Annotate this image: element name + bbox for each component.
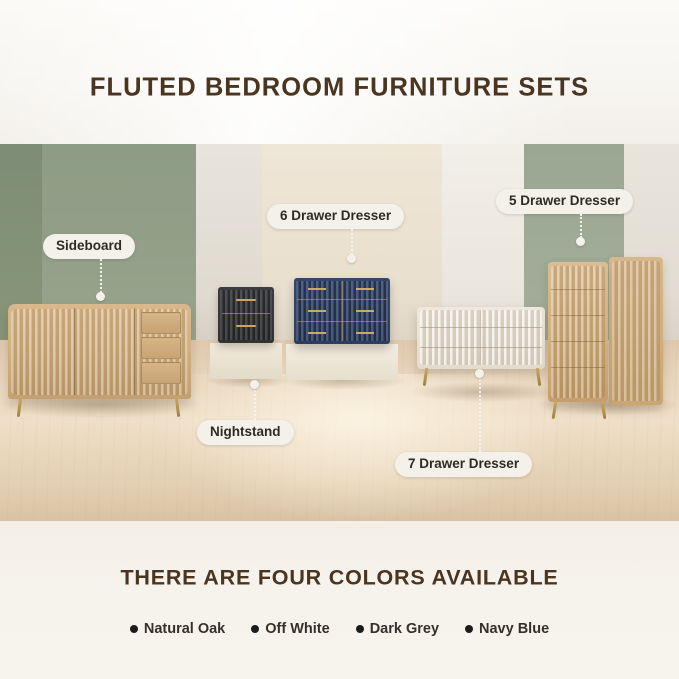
callout-6-drawer-dresser: 6 Drawer Dresser: [267, 204, 404, 229]
colors-heading: THERE ARE FOUR COLORS AVAILABLE: [0, 566, 679, 591]
leader-6-drawer-dresser: [351, 229, 353, 255]
room-scene: Sideboard 6 Drawer Dresser 5 Drawer Dres…: [0, 144, 679, 521]
bullet-icon-off-white: [251, 625, 259, 633]
oak-chest-seam-3: [551, 341, 605, 342]
color-option-dark-grey: Dark Grey: [356, 621, 439, 637]
furniture-5-drawer-dresser: [548, 262, 608, 402]
top-banner: [0, 0, 679, 144]
callout-sideboard: Sideboard: [43, 234, 135, 259]
sideboard-drawer-3: [141, 362, 181, 384]
furniture-6-drawer-dresser: [294, 278, 390, 344]
furniture-nightstand: [218, 287, 274, 343]
color-label-natural-oak: Natural Oak: [144, 621, 225, 637]
nightstand-handle-top: [236, 299, 256, 301]
navy-dresser-seam-v: [342, 281, 343, 341]
leader-5-drawer-dresser: [580, 214, 582, 238]
furniture-oak-wardrobe: [609, 257, 663, 405]
navy-handle-4: [356, 310, 374, 312]
callout-nightstand-label: Nightstand: [210, 424, 281, 439]
nightstand-handle-bottom: [236, 325, 256, 327]
oak-chest-seam-1: [551, 289, 605, 290]
bottom-banner: [0, 521, 679, 679]
bullet-icon-dark-grey: [356, 625, 364, 633]
banner-sheen: [0, 0, 679, 144]
furniture-7-drawer-dresser: [417, 307, 545, 369]
leader-dot-nightstand: [250, 380, 259, 389]
leader-dot-5-drawer-dresser: [576, 237, 585, 246]
leader-nightstand: [254, 387, 256, 420]
leader-dot-7-drawer-dresser: [475, 369, 484, 378]
bullet-icon-natural-oak: [130, 625, 138, 633]
leader-dot-sideboard: [96, 292, 105, 301]
color-options-row: Natural Oak Off White Dark Grey Navy Blu…: [0, 621, 679, 637]
promo-image: FLUTED BEDROOM FURNITURE SETS: [0, 0, 679, 679]
white-dresser-seam-v: [480, 310, 481, 365]
callout-7-drawer-dresser-label: 7 Drawer Dresser: [408, 456, 519, 471]
white-dresser-flutes: [420, 310, 542, 365]
color-option-natural-oak: Natural Oak: [130, 621, 225, 637]
leader-dot-6-drawer-dresser: [347, 254, 356, 263]
callout-5-drawer-dresser: 5 Drawer Dresser: [496, 189, 633, 214]
color-option-off-white: Off White: [251, 621, 329, 637]
color-label-off-white: Off White: [265, 621, 329, 637]
white-dresser-seam-2: [420, 347, 542, 348]
navy-handle-3: [308, 310, 326, 312]
nightstand-drawer-seam: [222, 313, 270, 314]
navy-handle-1: [308, 288, 326, 290]
sideboard-drawer-1: [141, 312, 181, 334]
navy-handle-5: [308, 332, 326, 334]
color-label-navy-blue: Navy Blue: [479, 621, 549, 637]
nightstand-flutes: [220, 290, 272, 340]
navy-handle-2: [356, 288, 374, 290]
sideboard-panel-seam: [74, 308, 75, 395]
white-dresser-seam-1: [420, 327, 542, 328]
sideboard-drawer-2: [141, 337, 181, 359]
leader-7-drawer-dresser: [479, 376, 481, 452]
callout-7-drawer-dresser: 7 Drawer Dresser: [395, 452, 532, 477]
bullet-icon-navy-blue: [465, 625, 473, 633]
oak-chest-seam-2: [551, 315, 605, 316]
callout-nightstand: Nightstand: [197, 420, 294, 445]
callout-sideboard-label: Sideboard: [56, 238, 122, 253]
nightstand-plinth: [210, 343, 282, 379]
sideboard-panel-seam-2: [134, 308, 135, 395]
wardrobe-flutes: [612, 261, 660, 401]
color-option-navy-blue: Navy Blue: [465, 621, 549, 637]
callout-5-drawer-dresser-label: 5 Drawer Dresser: [509, 193, 620, 208]
oak-chest-flutes: [551, 266, 605, 398]
color-label-dark-grey: Dark Grey: [370, 621, 439, 637]
navy-handle-6: [356, 332, 374, 334]
leader-sideboard: [100, 259, 102, 293]
page-title: FLUTED BEDROOM FURNITURE SETS: [0, 74, 679, 103]
oak-chest-seam-4: [551, 367, 605, 368]
shadow-white-dresser: [410, 382, 555, 402]
callout-6-drawer-dresser-label: 6 Drawer Dresser: [280, 208, 391, 223]
navy-dresser-plinth: [286, 344, 398, 380]
furniture-sideboard: [8, 304, 191, 399]
